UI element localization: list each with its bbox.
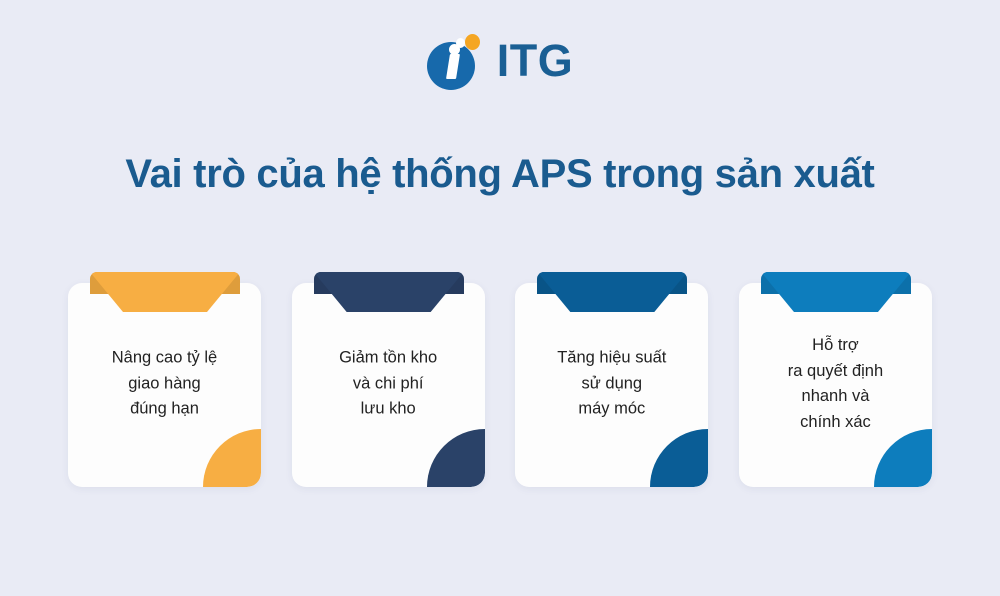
brand-logo: ITG [0, 30, 1000, 92]
card-body: Nâng cao tỷ lệ giao hàng đúng hạn [68, 283, 261, 487]
card-corner-accent-icon [874, 429, 932, 487]
card-label: Giảm tồn kho và chi phí lưu kho [302, 346, 475, 425]
card-corner-accent-icon [427, 429, 485, 487]
card-body: Tăng hiệu suất sử dụng máy móc [515, 283, 708, 487]
card-body: Giảm tồn kho và chi phí lưu kho [292, 283, 485, 487]
card-machine-efficiency[interactable]: Tăng hiệu suất sử dụng máy móc [515, 272, 708, 487]
card-label: Hỗ trợ ra quyết định nhanh và chính xác [749, 333, 922, 437]
card-on-time-delivery[interactable]: Nâng cao tỷ lệ giao hàng đúng hạn [68, 272, 261, 487]
card-corner-accent-icon [203, 429, 261, 487]
logo-bubble-small-icon [456, 38, 465, 48]
card-fast-decisions[interactable]: Hỗ trợ ra quyết định nhanh và chính xác [739, 272, 932, 487]
card-body: Hỗ trợ ra quyết định nhanh và chính xác [739, 283, 932, 487]
itg-logo-icon [427, 32, 483, 90]
card-corner-accent-icon [650, 429, 708, 487]
logo-bubble-large-icon [465, 34, 480, 50]
brand-name: ITG [497, 38, 574, 85]
card-label: Tăng hiệu suất sử dụng máy móc [525, 346, 698, 425]
card-reduce-inventory[interactable]: Giảm tồn kho và chi phí lưu kho [292, 272, 485, 487]
page-title: Vai trò của hệ thống APS trong sản xuất [0, 150, 1000, 198]
card-label: Nâng cao tỷ lệ giao hàng đúng hạn [78, 346, 251, 425]
benefit-cards-row: Nâng cao tỷ lệ giao hàng đúng hạn Giảm t… [68, 272, 932, 487]
